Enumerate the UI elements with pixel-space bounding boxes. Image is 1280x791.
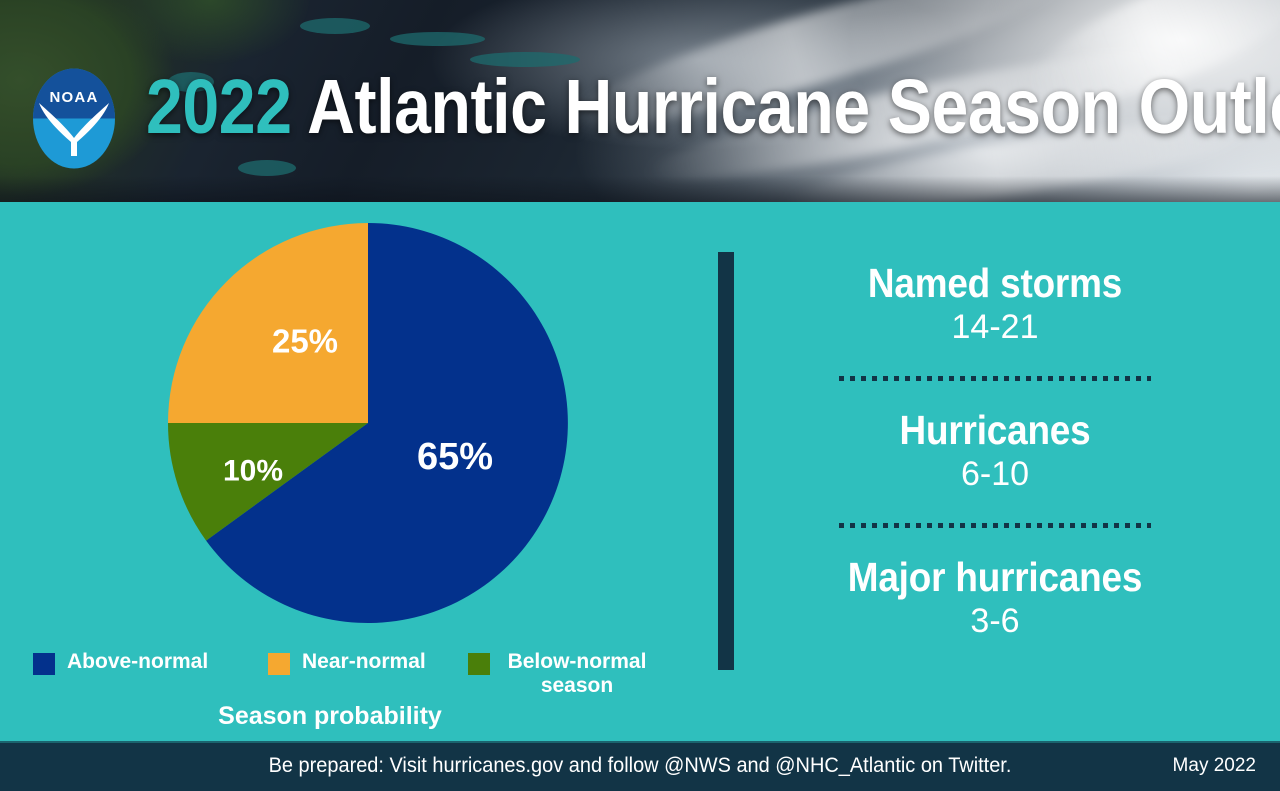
legend-label-below-normal: Below-normal season <box>502 650 652 698</box>
legend-swatch-green <box>468 653 490 675</box>
stat-title-major-hurricanes: Major hurricanes <box>784 554 1207 600</box>
stat-value-hurricanes: 6-10 <box>760 453 1230 495</box>
legend-swatch-orange <box>268 653 290 675</box>
title-year: 2022 <box>146 64 292 150</box>
footer-message: Be prepared: Visit hurricanes.gov and fo… <box>32 741 1248 791</box>
stat-named-storms: Named storms 14-21 <box>760 260 1230 348</box>
stat-title-hurricanes: Hurricanes <box>784 407 1207 453</box>
vertical-divider <box>718 252 734 670</box>
header-banner: NOAA 2022 Atlantic Hurricane Season Outl… <box>0 0 1280 202</box>
dotted-divider <box>839 376 1151 381</box>
pie-label-below-normal: 10% <box>223 455 283 488</box>
title-text: Atlantic Hurricane Season Outlook <box>292 64 1280 150</box>
island-shape <box>300 18 370 34</box>
stat-title-named-storms: Named storms <box>784 260 1207 306</box>
chart-legend-caption: Season probability <box>0 702 660 731</box>
main-content-panel: 65% 25% 10% Above-normal Near-normal Bel… <box>0 202 1280 741</box>
pie-label-above-normal: 65% <box>417 436 493 478</box>
legend-item-near-normal: Near-normal <box>268 650 426 675</box>
footer-bar: Be prepared: Visit hurricanes.gov and fo… <box>0 741 1280 791</box>
noaa-logo-text: NOAA <box>50 89 99 106</box>
stat-major-hurricanes: Major hurricanes 3-6 <box>760 554 1230 642</box>
forecast-stats-list: Named storms 14-21 Hurricanes 6-10 Major… <box>760 260 1230 642</box>
stat-value-major-hurricanes: 3-6 <box>760 600 1230 642</box>
hurricane-outlook-infographic: NOAA 2022 Atlantic Hurricane Season Outl… <box>0 0 1280 791</box>
stat-hurricanes: Hurricanes 6-10 <box>760 407 1230 495</box>
legend-swatch-blue <box>33 653 55 675</box>
page-title: 2022 Atlantic Hurricane Season Outlook <box>146 63 1280 151</box>
noaa-logo: NOAA <box>32 68 116 169</box>
legend-item-above-normal: Above-normal <box>33 650 208 675</box>
pie-label-near-normal: 25% <box>272 323 338 360</box>
island-shape <box>390 32 485 46</box>
stat-value-named-storms: 14-21 <box>760 306 1230 348</box>
legend-label-near-normal: Near-normal <box>302 650 426 674</box>
season-probability-pie-chart: 65% 25% 10% <box>167 222 569 624</box>
legend-label-above-normal: Above-normal <box>67 650 208 674</box>
island-shape <box>238 160 296 176</box>
dotted-divider <box>839 523 1151 528</box>
header-bottom-shadow <box>0 176 1280 202</box>
chart-legend: Above-normal Near-normal Below-normal se… <box>28 650 688 710</box>
legend-item-below-normal: Below-normal season <box>468 650 652 698</box>
footer-date: May 2022 <box>1173 741 1256 791</box>
